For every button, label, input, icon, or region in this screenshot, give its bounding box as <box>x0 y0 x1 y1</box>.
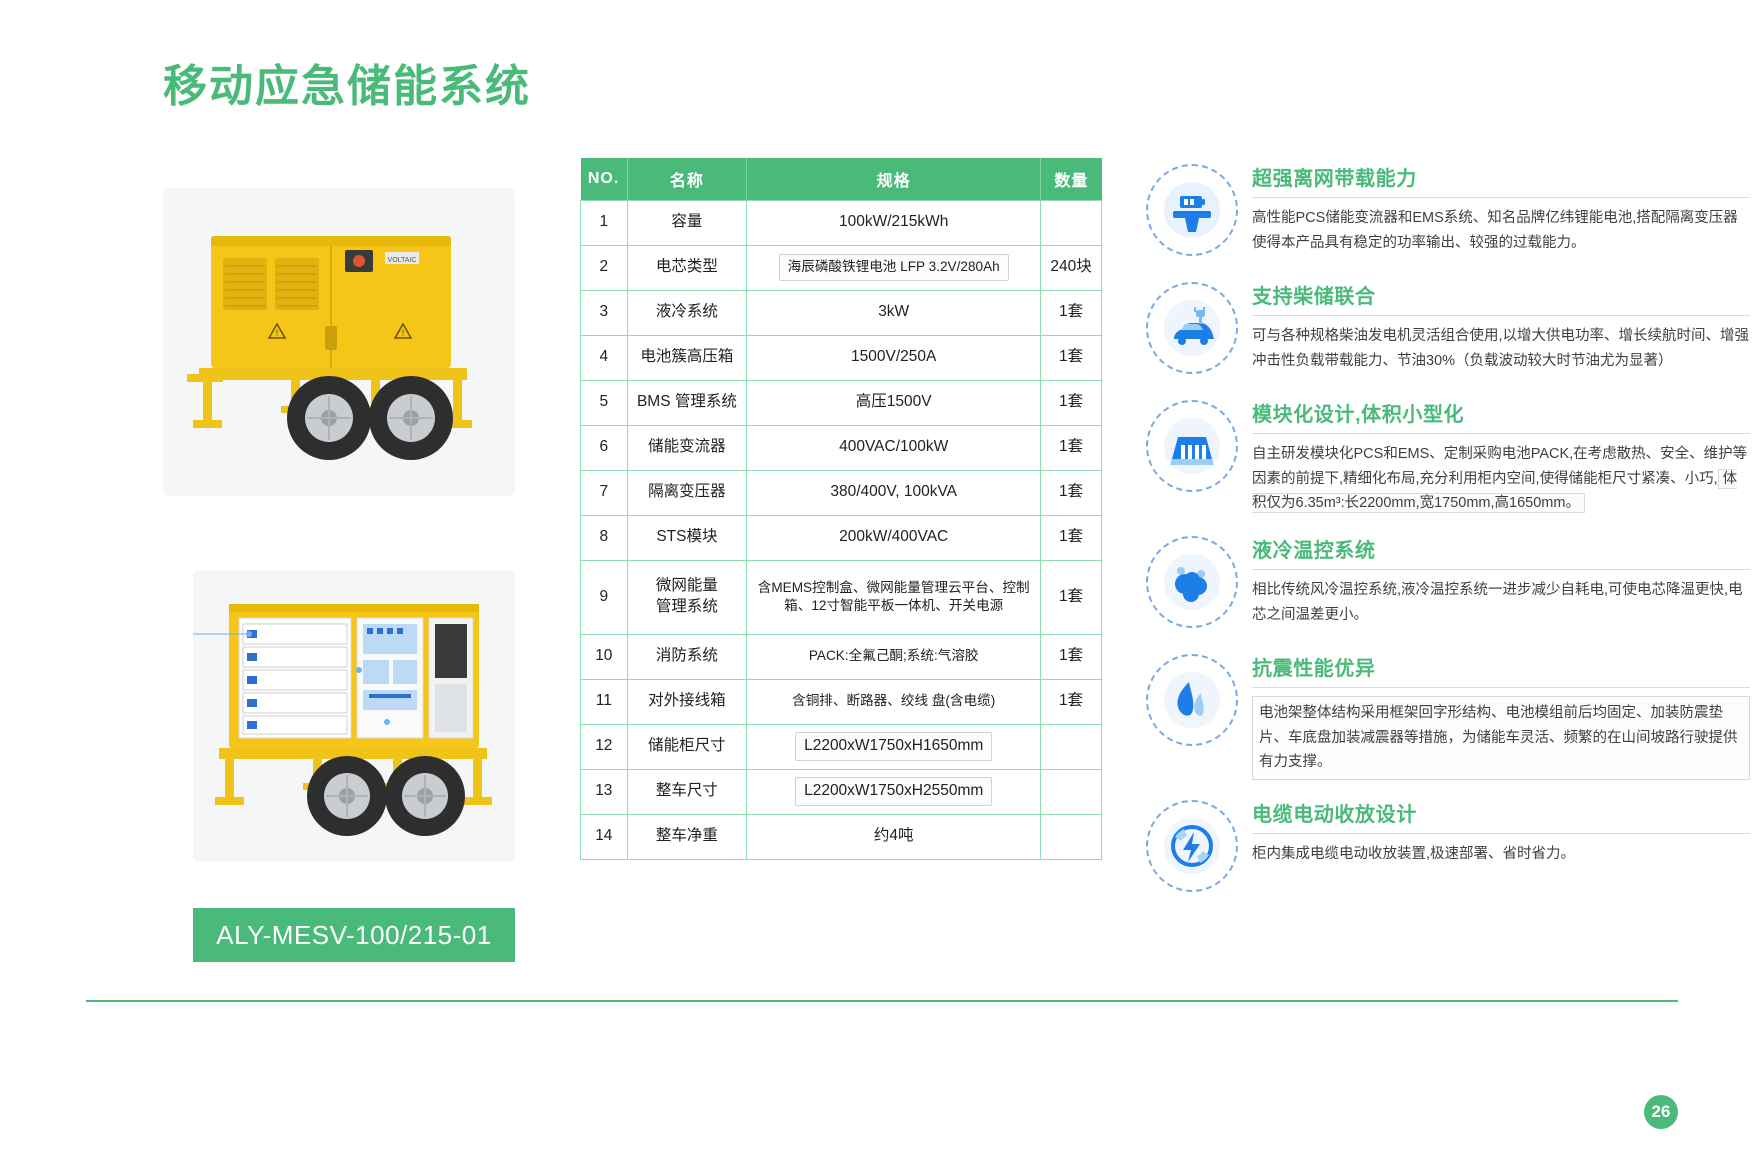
feature-description: 电池架整体结构采用框架回字形结构、电池模组前后均固定、加装防震垫片、车底盘加装减… <box>1252 696 1750 780</box>
cell-spec: PACK:全氟己酮;系统:气溶胶 <box>747 634 1041 679</box>
cell-no: 5 <box>581 380 628 425</box>
feature-item: 电缆电动收放设计 柜内集成电缆电动收放装置,极速部署、省时省力。 <box>1140 794 1750 898</box>
cell-spec: 1500V/250A <box>747 335 1041 380</box>
cell-qty: 1套 <box>1041 335 1102 380</box>
feature-description: 柜内集成电缆电动收放装置,极速部署、省时省力。 <box>1252 842 1750 867</box>
cell-spec: 200kW/400VAC <box>747 515 1041 560</box>
cell-name: 隔离变压器 <box>627 470 747 515</box>
table-row: 3 液冷系统 3kW 1套 <box>581 290 1102 335</box>
battery-offgrid-icon <box>1140 158 1244 262</box>
table-row: 4 电池簇高压箱 1500V/250A 1套 <box>581 335 1102 380</box>
cell-qty <box>1041 769 1102 814</box>
cell-no: 12 <box>581 724 628 769</box>
feature-item: 模块化设计,体积小型化 自主研发模块化PCS和EMS、定制采购电池PACK,在考… <box>1140 394 1750 516</box>
footer-divider <box>86 1000 1678 1002</box>
feature-body: 支持柴储联合 可与各种规格柴油发电机灵活组合使用,以增大供电功率、增长续航时间、… <box>1252 276 1750 373</box>
page-title: 移动应急储能系统 <box>163 50 531 114</box>
cell-qty: 1套 <box>1041 560 1102 634</box>
cell-spec: 3kW <box>747 290 1041 335</box>
cell-spec: 海辰磷酸铁锂电池 LFP 3.2V/280Ah <box>747 245 1041 290</box>
feature-description-prefix: 自主研发模块化PCS和EMS、定制采购电池PACK,在考虑散热、安全、维护等因素… <box>1252 446 1747 487</box>
feature-title: 电缆电动收放设计 <box>1252 798 1750 827</box>
cell-no: 7 <box>581 470 628 515</box>
cell-no: 1 <box>581 200 628 245</box>
cell-spec: 含MEMS控制盒、微网能量管理云平台、控制箱、12寸智能平板一体机、开关电源 <box>747 560 1041 634</box>
cell-no: 14 <box>581 814 628 859</box>
specification-table: NO. 名称 规格 数量 1 容量 100kW/215kWh 2 电芯类型 海辰… <box>580 158 1102 860</box>
divider <box>1252 687 1750 688</box>
feature-description: 自主研发模块化PCS和EMS、定制采购电池PACK,在考虑散热、安全、维护等因素… <box>1252 442 1750 516</box>
cell-spec-text: L2200xW1750xH2550mm <box>795 777 992 806</box>
table-row: 1 容量 100kW/215kWh <box>581 200 1102 245</box>
cell-spec: 约4吨 <box>747 814 1041 859</box>
diesel-car-charging-icon <box>1140 276 1244 380</box>
table-row: 10 消防系统 PACK:全氟己酮;系统:气溶胶 1套 <box>581 634 1102 679</box>
cell-spec-text: 海辰磷酸铁锂电池 LFP 3.2V/280Ah <box>779 254 1009 280</box>
cell-no: 6 <box>581 425 628 470</box>
cell-qty: 1套 <box>1041 425 1102 470</box>
table-row: 6 储能变流器 400VAC/100kW 1套 <box>581 425 1102 470</box>
cell-qty <box>1041 814 1102 859</box>
table-row: 12 储能柜尺寸 L2200xW1750xH1650mm <box>581 724 1102 769</box>
cell-spec: 100kW/215kWh <box>747 200 1041 245</box>
table-row: 2 电芯类型 海辰磷酸铁锂电池 LFP 3.2V/280Ah 240块 <box>581 245 1102 290</box>
slide-page: 移动应急储能系统 <box>0 0 1764 1172</box>
cell-qty <box>1041 200 1102 245</box>
feature-title: 抗震性能优异 <box>1252 652 1750 681</box>
cell-spec: L2200xW1750xH2550mm <box>747 769 1041 814</box>
feature-description: 可与各种规格柴油发电机灵活组合使用,以增大供电功率、增长续航时间、增强冲击性负载… <box>1252 324 1750 373</box>
cell-no: 9 <box>581 560 628 634</box>
cell-spec: 400VAC/100kW <box>747 425 1041 470</box>
cell-qty: 1套 <box>1041 679 1102 724</box>
cell-qty: 1套 <box>1041 634 1102 679</box>
cell-name: 消防系统 <box>627 634 747 679</box>
cell-spec: 含铜排、断路器、绞线 盘(含电缆) <box>747 679 1041 724</box>
cell-qty <box>1041 724 1102 769</box>
cell-qty: 1套 <box>1041 515 1102 560</box>
cell-name: 储能变流器 <box>627 425 747 470</box>
feature-title: 超强离网带载能力 <box>1252 162 1750 191</box>
table-row: 7 隔离变压器 380/400V, 100kVA 1套 <box>581 470 1102 515</box>
feature-body: 液冷温控系统 相比传统风冷温控系统,液冷温控系统一进步减少自耗电,可使电芯降温更… <box>1252 530 1750 627</box>
cell-name: STS模块 <box>627 515 747 560</box>
feature-title: 支持柴储联合 <box>1252 280 1750 309</box>
page-number-badge: 26 <box>1644 1095 1678 1129</box>
cell-name: 微网能量 管理系统 <box>627 560 747 634</box>
divider <box>1252 433 1750 434</box>
feature-item: 支持柴储联合 可与各种规格柴油发电机灵活组合使用,以增大供电功率、增长续航时间、… <box>1140 276 1750 380</box>
feature-title: 液冷温控系统 <box>1252 534 1750 563</box>
divider <box>1252 315 1750 316</box>
feature-list: 超强离网带载能力 高性能PCS储能变流器和EMS系统、知名品牌亿纬锂能电池,搭配… <box>1140 158 1750 912</box>
table-row: 8 STS模块 200kW/400VAC 1套 <box>581 515 1102 560</box>
table-header-row: NO. 名称 规格 数量 <box>581 158 1102 200</box>
cell-name: 容量 <box>627 200 747 245</box>
modular-cabinet-icon <box>1140 394 1244 498</box>
table-row: 13 整车尺寸 L2200xW1750xH2550mm <box>581 769 1102 814</box>
cell-name: 储能柜尺寸 <box>627 724 747 769</box>
table-row: 5 BMS 管理系统 高压1500V 1套 <box>581 380 1102 425</box>
shock-resistant-leaf-icon <box>1140 648 1244 752</box>
svg-text:!: ! <box>402 328 405 338</box>
cell-no: 2 <box>581 245 628 290</box>
divider <box>1252 833 1750 834</box>
header-name: 名称 <box>627 158 747 200</box>
table-row: 14 整车净重 约4吨 <box>581 814 1102 859</box>
feature-item: 超强离网带载能力 高性能PCS储能变流器和EMS系统、知名品牌亿纬锂能电池,搭配… <box>1140 158 1750 262</box>
feature-body: 超强离网带载能力 高性能PCS储能变流器和EMS系统、知名品牌亿纬锂能电池,搭配… <box>1252 158 1750 255</box>
svg-text:VOLTAIC: VOLTAIC <box>388 257 417 264</box>
cell-no: 13 <box>581 769 628 814</box>
cell-spec: 380/400V, 100kVA <box>747 470 1041 515</box>
cell-qty: 1套 <box>1041 290 1102 335</box>
svg-text:!: ! <box>276 328 279 338</box>
cell-spec: 高压1500V <box>747 380 1041 425</box>
model-badge: ALY-MESV-100/215-01 <box>193 908 515 962</box>
cell-name: 对外接线箱 <box>627 679 747 724</box>
header-no: NO. <box>581 158 628 200</box>
cell-spec: L2200xW1750xH1650mm <box>747 724 1041 769</box>
feature-title: 模块化设计,体积小型化 <box>1252 398 1750 427</box>
cell-qty: 1套 <box>1041 470 1102 515</box>
cell-name: 电芯类型 <box>627 245 747 290</box>
product-photo-exterior: VOLTAIC ! ! <box>163 188 515 496</box>
divider <box>1252 569 1750 570</box>
divider <box>1252 197 1750 198</box>
cell-no: 8 <box>581 515 628 560</box>
cable-reel-power-icon <box>1140 794 1244 898</box>
table-row: 11 对外接线箱 含铜排、断路器、绞线 盘(含电缆) 1套 <box>581 679 1102 724</box>
cell-no: 4 <box>581 335 628 380</box>
feature-body: 电缆电动收放设计 柜内集成电缆电动收放装置,极速部署、省时省力。 <box>1252 794 1750 867</box>
feature-body: 模块化设计,体积小型化 自主研发模块化PCS和EMS、定制采购电池PACK,在考… <box>1252 394 1750 516</box>
product-photo-interior <box>193 570 515 862</box>
header-spec: 规格 <box>747 158 1041 200</box>
feature-item: 抗震性能优异 电池架整体结构采用框架回字形结构、电池模组前后均固定、加装防震垫片… <box>1140 648 1750 780</box>
cell-name: 整车净重 <box>627 814 747 859</box>
cell-no: 11 <box>581 679 628 724</box>
cell-spec-text: L2200xW1750xH1650mm <box>795 732 992 761</box>
cell-name: 液冷系统 <box>627 290 747 335</box>
cell-qty: 240块 <box>1041 245 1102 290</box>
cell-name: BMS 管理系统 <box>627 380 747 425</box>
feature-body: 抗震性能优异 电池架整体结构采用框架回字形结构、电池模组前后均固定、加装防震垫片… <box>1252 648 1750 780</box>
cell-name: 整车尺寸 <box>627 769 747 814</box>
cell-name: 电池簇高压箱 <box>627 335 747 380</box>
table-row: 9 微网能量 管理系统 含MEMS控制盒、微网能量管理云平台、控制箱、12寸智能… <box>581 560 1102 634</box>
liquid-cooling-icon <box>1140 530 1244 634</box>
cell-no: 3 <box>581 290 628 335</box>
cell-qty: 1套 <box>1041 380 1102 425</box>
cell-no: 10 <box>581 634 628 679</box>
feature-description: 高性能PCS储能变流器和EMS系统、知名品牌亿纬锂能电池,搭配隔离变压器使得本产… <box>1252 206 1750 255</box>
feature-description: 相比传统风冷温控系统,液冷温控系统一进步减少自耗电,可使电芯降温更快,电芯之间温… <box>1252 578 1750 627</box>
feature-item: 液冷温控系统 相比传统风冷温控系统,液冷温控系统一进步减少自耗电,可使电芯降温更… <box>1140 530 1750 634</box>
header-qty: 数量 <box>1041 158 1102 200</box>
